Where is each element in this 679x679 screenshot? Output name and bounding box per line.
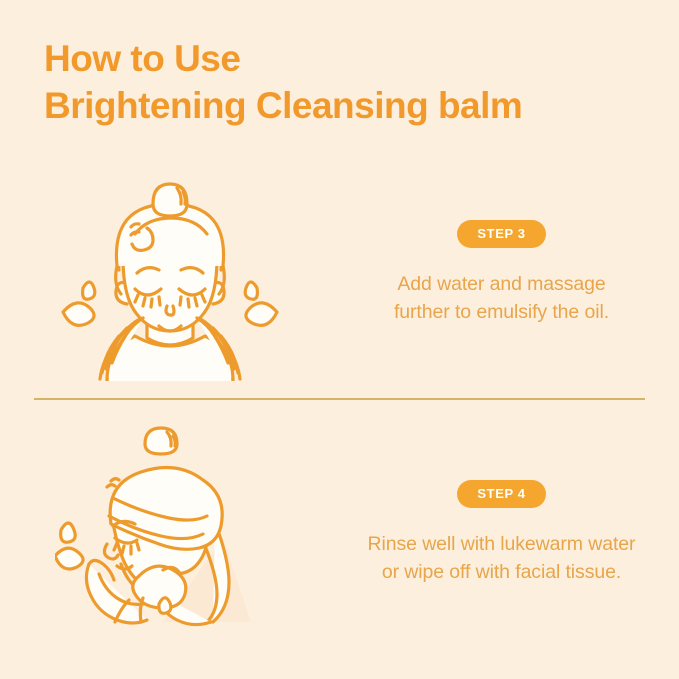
step-3-text-block: STEP 3 Add water and massage further to … [340, 160, 679, 386]
status-badge-step-4: STEP 4 [457, 480, 545, 508]
step-4-description-line-2: or wipe off with facial tissue. [368, 558, 636, 586]
illustration-step-3 [0, 160, 340, 386]
step-4-description: Rinse well with lukewarm water or wipe o… [368, 530, 636, 587]
step-section-3: STEP 3 Add water and massage further to … [0, 160, 679, 386]
step-4-text-block: STEP 4 Rinse well with lukewarm water or… [340, 420, 679, 646]
step-3-description: Add water and massage further to emulsif… [394, 270, 609, 327]
illustration-step-4 [0, 420, 340, 646]
step-4-description-line-1: Rinse well with lukewarm water [368, 530, 636, 558]
section-divider [34, 398, 645, 400]
infographic-page: How to Use Brightening Cleansing balm [0, 0, 679, 679]
woman-rinsing-face-icon [55, 426, 285, 641]
step-3-description-line-2: further to emulsify the oil. [394, 298, 609, 326]
woman-massaging-face-icon [55, 166, 285, 381]
page-title: How to Use Brightening Cleansing balm [44, 38, 644, 127]
status-badge-step-3: STEP 3 [457, 220, 545, 248]
page-title-line-1: How to Use [44, 38, 644, 81]
page-title-line-2: Brightening Cleansing balm [44, 85, 644, 128]
step-3-description-line-1: Add water and massage [394, 270, 609, 298]
step-section-4: STEP 4 Rinse well with lukewarm water or… [0, 420, 679, 646]
